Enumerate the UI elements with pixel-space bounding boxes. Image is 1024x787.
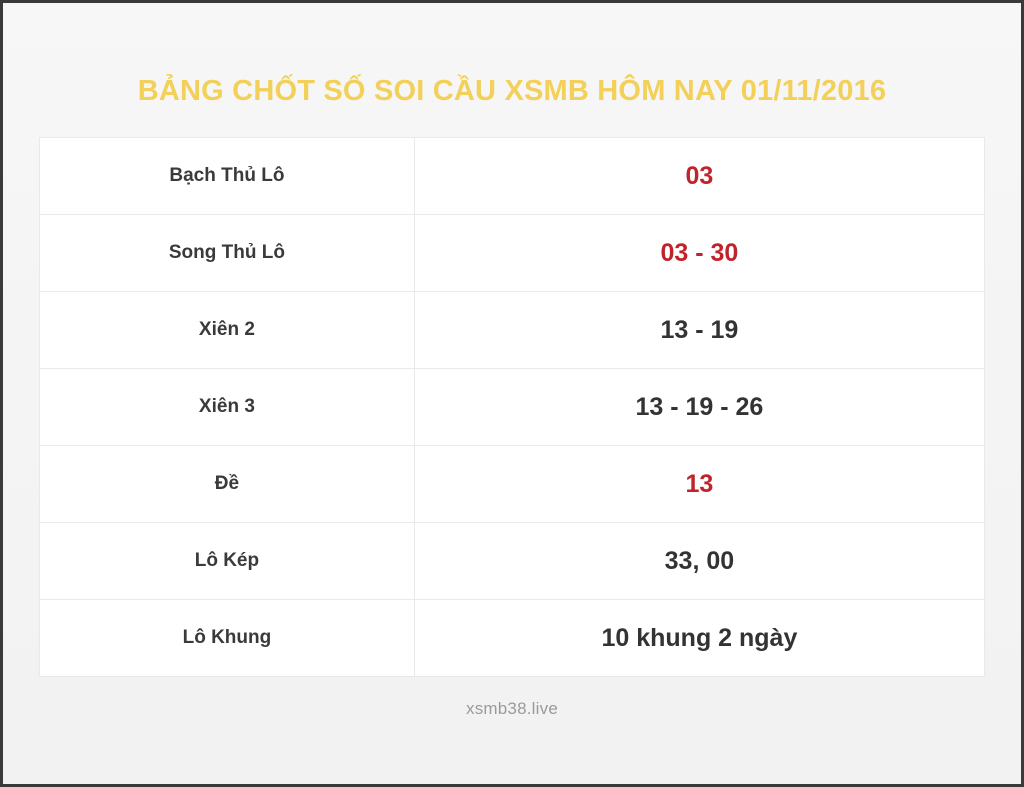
row-label: Xiên 2 (40, 292, 415, 369)
site-watermark: xsmb38.live (466, 699, 558, 719)
table-row: Xiên 213 - 19 (40, 292, 985, 369)
row-label: Đề (40, 446, 415, 523)
chot-so-table: Bạch Thủ Lô03Song Thủ Lô03 - 30Xiên 213 … (39, 137, 985, 677)
table-row: Bạch Thủ Lô03 (40, 138, 985, 215)
row-label: Lô Khung (40, 600, 415, 677)
row-value: 03 (414, 138, 984, 215)
row-label: Song Thủ Lô (40, 215, 415, 292)
row-label: Lô Kép (40, 523, 415, 600)
table-row: Lô Khung10 khung 2 ngày (40, 600, 985, 677)
table-row: Lô Kép33, 00 (40, 523, 985, 600)
page-title: BẢNG CHỐT SỐ SOI CẦU XSMB HÔM NAY 01/11/… (138, 75, 887, 108)
chot-so-table-body: Bạch Thủ Lô03Song Thủ Lô03 - 30Xiên 213 … (40, 138, 985, 677)
row-label: Xiên 3 (40, 369, 415, 446)
row-value: 10 khung 2 ngày (414, 600, 984, 677)
row-value: 13 - 19 (414, 292, 984, 369)
table-row: Song Thủ Lô03 - 30 (40, 215, 985, 292)
row-value: 33, 00 (414, 523, 984, 600)
chot-so-table-wrap: Bạch Thủ Lô03Song Thủ Lô03 - 30Xiên 213 … (39, 137, 985, 677)
row-value: 13 (414, 446, 984, 523)
row-value: 13 - 19 - 26 (414, 369, 984, 446)
page-frame: BẢNG CHỐT SỐ SOI CẦU XSMB HÔM NAY 01/11/… (0, 0, 1024, 787)
row-value: 03 - 30 (414, 215, 984, 292)
table-row: Xiên 313 - 19 - 26 (40, 369, 985, 446)
table-row: Đề13 (40, 446, 985, 523)
row-label: Bạch Thủ Lô (40, 138, 415, 215)
